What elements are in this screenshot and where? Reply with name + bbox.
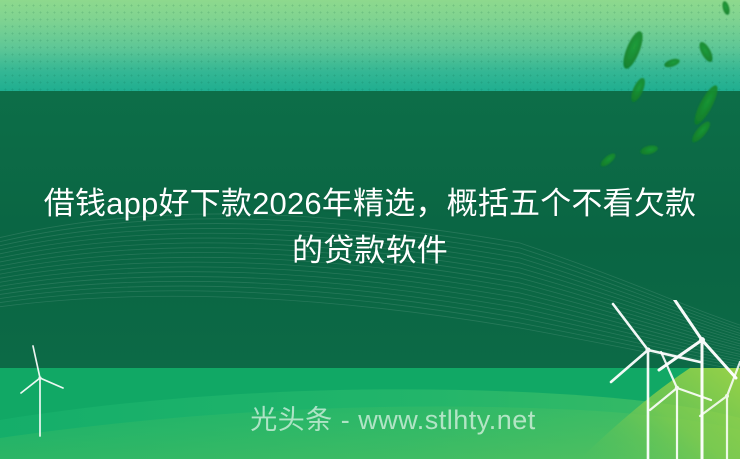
- banner-title: 借钱app好下款2026年精选，概括五个不看欠款的贷款软件: [0, 180, 740, 274]
- banner-title-text: 借钱app好下款2026年精选，概括五个不看欠款的贷款软件: [34, 180, 706, 274]
- site-watermark: 光头条 - www.stlhty.net: [0, 403, 740, 437]
- site-watermark-text: 光头条 - www.stlhty.net: [250, 403, 536, 437]
- halftone-dot-pattern: [0, 0, 740, 91]
- article-cover-banner: 借钱app好下款2026年精选，概括五个不看欠款的贷款软件 光头条 - www.…: [0, 0, 740, 459]
